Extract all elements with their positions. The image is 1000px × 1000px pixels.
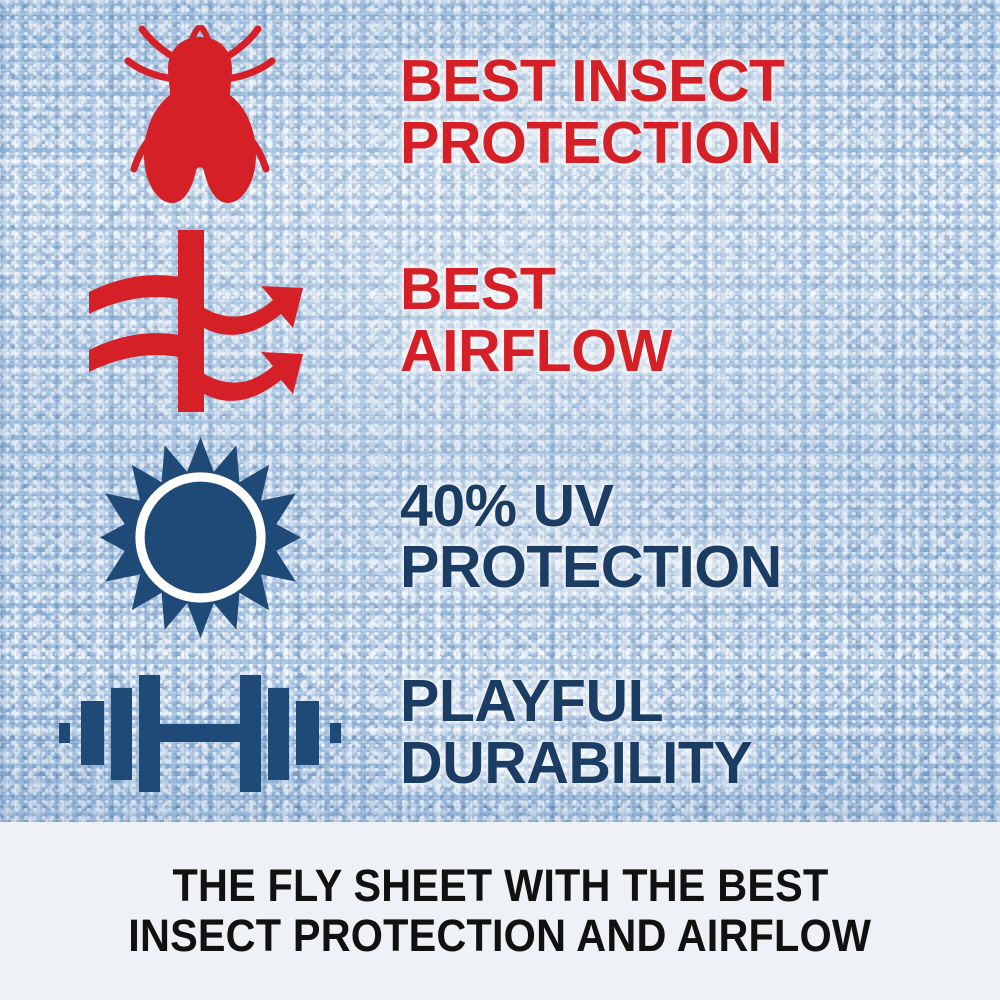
feature-icon-cell — [0, 226, 400, 416]
feature-icon-cell — [0, 435, 400, 640]
banner-line-2: INSECT PROTECTION AND AIRFLOW — [129, 911, 872, 961]
feature-row-insect-protection: BEST INSECT PROTECTION — [0, 10, 1000, 215]
bottom-caption-banner: THE FLY SHEET WITH THE BEST INSECT PROTE… — [0, 822, 1000, 1000]
feature-row-uv-protection: 40% UV PROTECTION — [0, 432, 1000, 642]
feature-text-cell: 40% UV PROTECTION — [400, 476, 1000, 599]
feature-text-cell: PLAYFUL DURABILITY — [400, 671, 1000, 794]
feature-text-cell: BEST AIRFLOW — [400, 259, 1000, 382]
feature-label-airflow: BEST AIRFLOW — [400, 259, 980, 382]
feature-label-insect-protection: BEST INSECT PROTECTION — [400, 51, 980, 174]
airflow-arrows-icon — [83, 226, 318, 416]
feature-label-uv-protection: 40% UV PROTECTION — [400, 476, 980, 599]
product-feature-infographic: BEST INSECT PROTECTION — [0, 0, 1000, 1000]
feature-icon-cell — [0, 668, 400, 798]
banner-line-1: THE FLY SHEET WITH THE BEST — [172, 861, 828, 911]
feature-label-durability: PLAYFUL DURABILITY — [400, 671, 980, 794]
feature-text-cell: BEST INSECT PROTECTION — [400, 51, 1000, 174]
feature-row-durability: PLAYFUL DURABILITY — [0, 645, 1000, 820]
dumbbell-icon — [55, 668, 345, 798]
sun-icon — [98, 435, 303, 640]
fly-icon — [110, 15, 290, 210]
feature-icon-cell — [0, 15, 400, 210]
feature-list: BEST INSECT PROTECTION — [0, 0, 1000, 822]
feature-row-airflow: BEST AIRFLOW — [0, 218, 1000, 423]
